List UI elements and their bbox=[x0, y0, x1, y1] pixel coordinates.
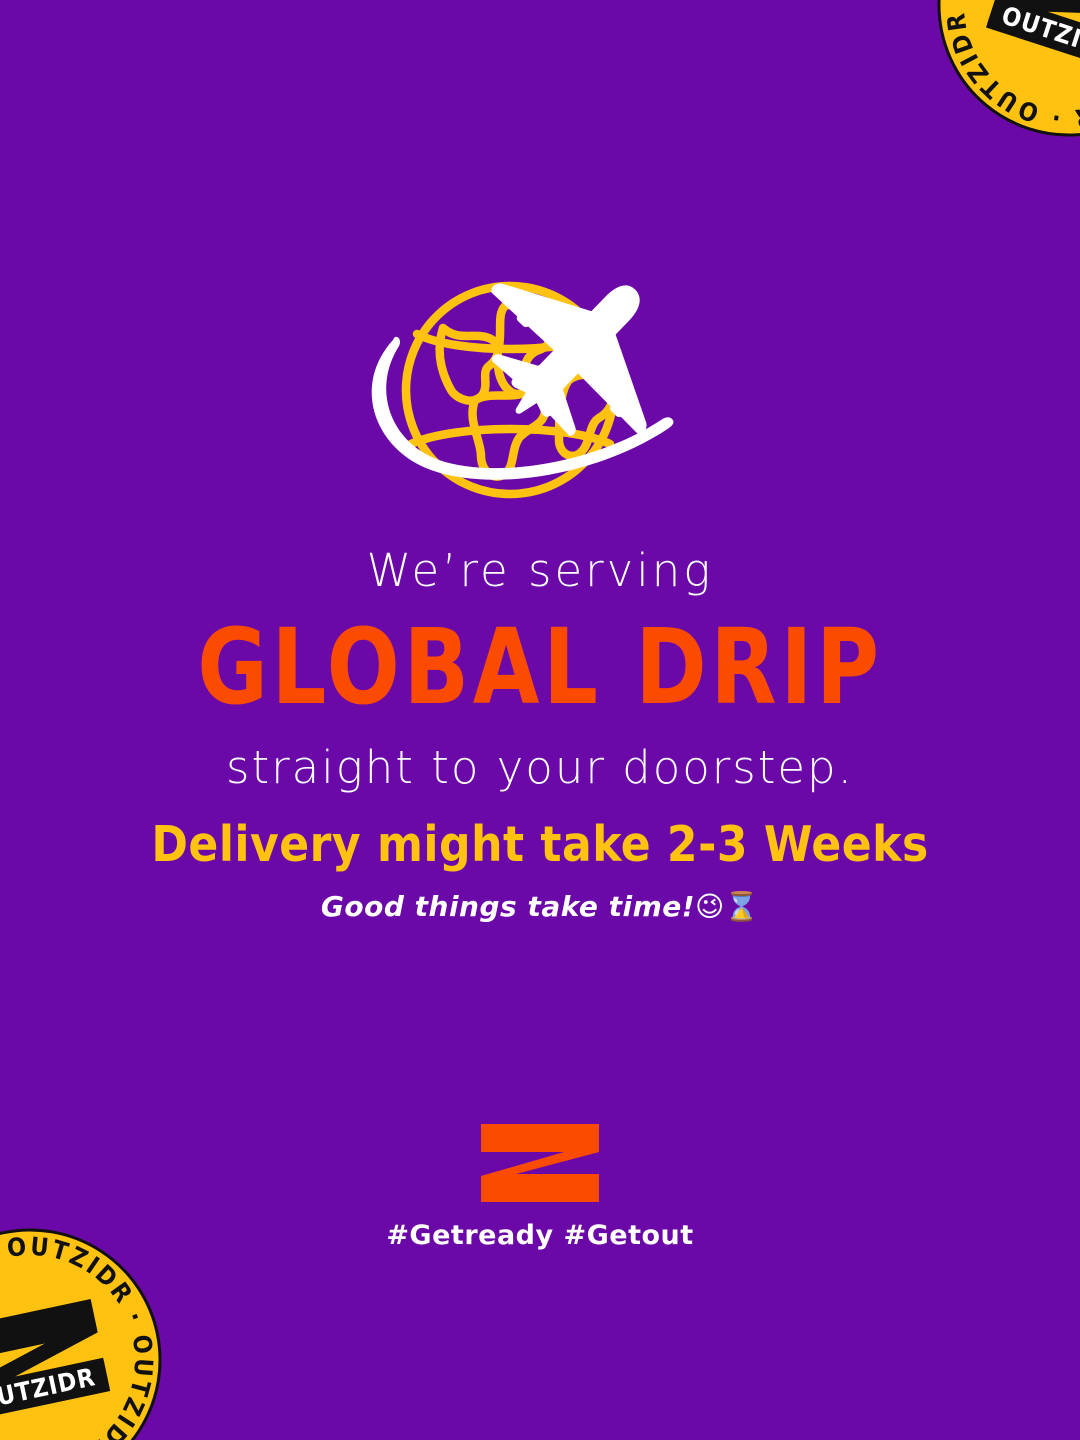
sub-headline: straight to your doorstep. bbox=[0, 745, 1080, 790]
main-headline: GLOBAL DRIP bbox=[43, 615, 1037, 719]
delivery-subtext-label: Good things take time! bbox=[321, 890, 695, 923]
delivery-headline: Delivery might take 2-3 Weeks bbox=[0, 820, 1080, 869]
outzidr-seal-badge-bottom-left: OUTZIDR · OUTZIDR · OUTZIDR · OUTZIDR · … bbox=[0, 1225, 165, 1440]
outzidr-seal-badge-top-right: OUTZIDR · OUTZIDR · OUTZIDR · OUTZIDR · … bbox=[934, 0, 1080, 140]
delivery-notice-block: Delivery might take 2-3 Weeks Good thing… bbox=[0, 820, 1080, 921]
outzidr-z-logo bbox=[478, 1122, 602, 1204]
delivery-subtext: Good things take time!😉⌛ bbox=[0, 893, 1080, 921]
globe-airplane-illustration bbox=[355, 272, 715, 512]
poster-canvas: We’re serving GLOBAL DRIP straight to yo… bbox=[0, 0, 1080, 1440]
hourglass-emoji: ⌛ bbox=[724, 890, 759, 923]
winking-face-emoji: 😉 bbox=[695, 890, 724, 923]
eyebrow-text: We’re serving bbox=[0, 548, 1080, 593]
headline-block: We’re serving GLOBAL DRIP straight to yo… bbox=[0, 548, 1080, 790]
